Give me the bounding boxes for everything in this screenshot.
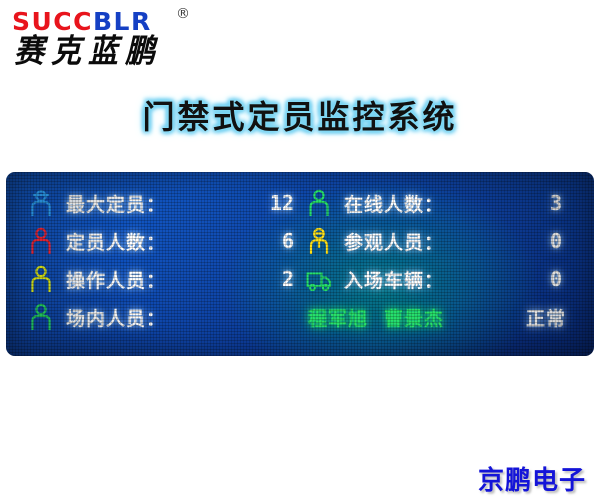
stat-operator-count: 操作人员： 2 [28, 260, 300, 298]
stat-value: 12 [270, 191, 294, 215]
stat-label: 场内人员： [66, 304, 166, 331]
led-row: 操作人员： 2 入场车辆： 0 [6, 260, 594, 298]
stat-value: 0 [550, 267, 562, 291]
person-blue-icon [28, 189, 54, 217]
brand-chinese-name: 赛克蓝鹏 [14, 36, 162, 68]
page-title: 门禁式定员监控系统 [0, 92, 600, 138]
led-display-panel: 最大定员： 12 在线人数： 3 [6, 172, 594, 356]
stat-assigned-count: 定员人数： 6 [28, 222, 300, 260]
onsite-name: 曹景杰 [384, 308, 444, 330]
stat-label: 最大定员： [66, 190, 166, 217]
stat-value: 0 [550, 229, 562, 253]
brand-wordmark: SUCCBLR [12, 9, 152, 34]
stat-label: 定员人数： [66, 228, 166, 255]
led-row: 最大定员： 12 在线人数： 3 [6, 184, 594, 222]
brand-logo: SUCCBLR ® 赛克蓝鹏 [8, 6, 248, 72]
stat-visitor-count: 参观人员： 0 [306, 222, 576, 260]
person-green-icon [28, 303, 54, 331]
stat-online-count: 在线人数： 3 [306, 184, 576, 222]
stat-vehicle-count: 入场车辆： 0 [306, 260, 576, 298]
visitor-yellow-icon [306, 227, 332, 255]
person-yellow-icon [28, 265, 54, 293]
onsite-name: 程军旭 [308, 308, 368, 330]
brand-wordmark-blue: BLR [93, 7, 152, 36]
stat-label: 参观人员： [344, 228, 444, 255]
person-green-icon [306, 189, 332, 217]
stat-value: 3 [550, 191, 562, 215]
onsite-name-list: 程军旭曹景杰 [308, 304, 460, 331]
footer-company-logo: 京鹏电子 [478, 460, 586, 497]
stat-value: 2 [282, 267, 294, 291]
stat-value: 6 [282, 229, 294, 253]
stat-label: 操作人员： [66, 266, 166, 293]
truck-green-icon [306, 265, 332, 293]
brand-wordmark-red: SUCC [12, 7, 93, 36]
led-row: 定员人数： 6 参观人员： 0 [6, 222, 594, 260]
registered-trademark-icon: ® [176, 6, 190, 22]
stat-label: 入场车辆： [344, 266, 444, 293]
stat-max-capacity: 最大定员： 12 [28, 184, 300, 222]
led-row-onsite: 场内人员： 程军旭曹景杰 正常 [6, 298, 594, 336]
stat-onsite-personnel: 场内人员： 程军旭曹景杰 正常 [28, 298, 580, 336]
led-rows: 最大定员： 12 在线人数： 3 [6, 172, 594, 356]
stat-label: 在线人数： [344, 190, 444, 217]
status-badge: 正常 [526, 304, 566, 331]
person-red-icon [28, 227, 54, 255]
